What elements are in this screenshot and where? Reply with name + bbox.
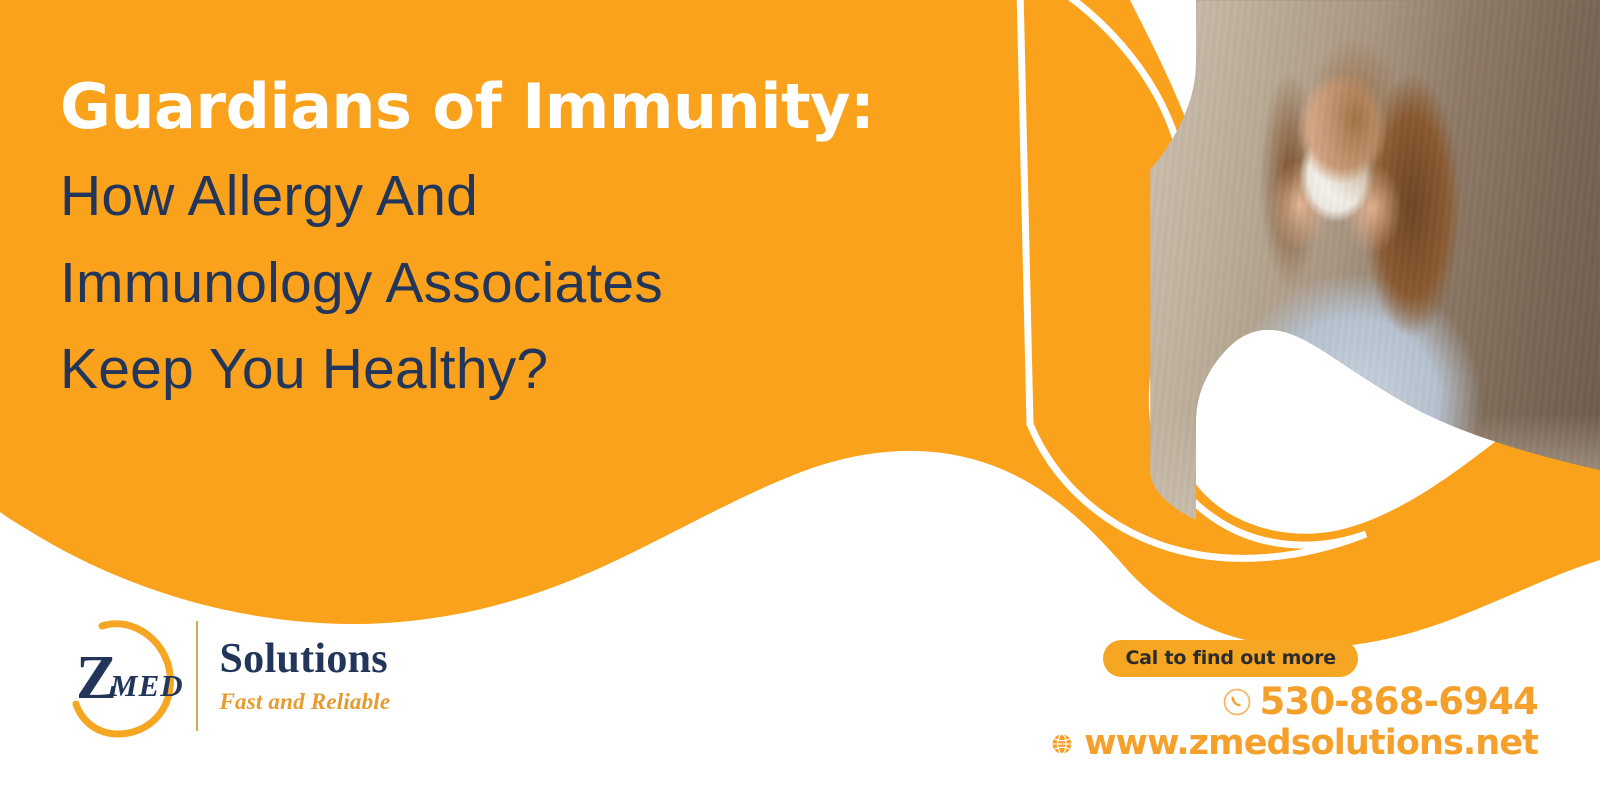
logo-tagline: Fast and Reliable — [220, 688, 391, 716]
promo-banner: Guardians of Immunity: How Allergy And I… — [0, 0, 1600, 800]
phone-number[interactable]: 530-868-6944 — [1259, 683, 1538, 720]
headline-line-2: How Allergy And — [60, 153, 1120, 240]
website-row[interactable]: www.zmedsolutions.net — [1047, 726, 1538, 761]
photo-pixels — [1150, 0, 1600, 530]
globe-icon — [1047, 729, 1077, 759]
brand-logo[interactable]: Z MED Solutions Fast and Reliable — [62, 612, 390, 740]
contact-block: Cal to find out more 530-868-6944 www.zm… — [1047, 640, 1538, 761]
logo-word-med: MED — [109, 668, 184, 703]
logo-text-group: Solutions Fast and Reliable — [220, 637, 391, 716]
logo-company-name: Solutions — [220, 637, 391, 681]
phone-row[interactable]: 530-868-6944 — [1222, 683, 1538, 720]
headline-subtitle: How Allergy And Immunology Associates Ke… — [60, 153, 1120, 413]
headline-line-3: Immunology Associates — [60, 240, 1120, 327]
website-url[interactable]: www.zmedsolutions.net — [1084, 726, 1538, 761]
headline-line-4: Keep You Healthy? — [60, 326, 1120, 413]
logo-divider — [196, 621, 198, 731]
headline-line-1: Guardians of Immunity: — [60, 74, 1120, 141]
photo-mask-svg — [1150, 0, 1600, 530]
hero-photo — [1150, 0, 1600, 530]
cta-badge[interactable]: Cal to find out more — [1103, 640, 1358, 677]
headline-block: Guardians of Immunity: How Allergy And I… — [60, 74, 1120, 413]
phone-circle-icon — [1222, 687, 1252, 717]
logo-mark: Z MED — [62, 612, 190, 740]
orange-c-ring-icon: Z MED — [62, 612, 190, 740]
